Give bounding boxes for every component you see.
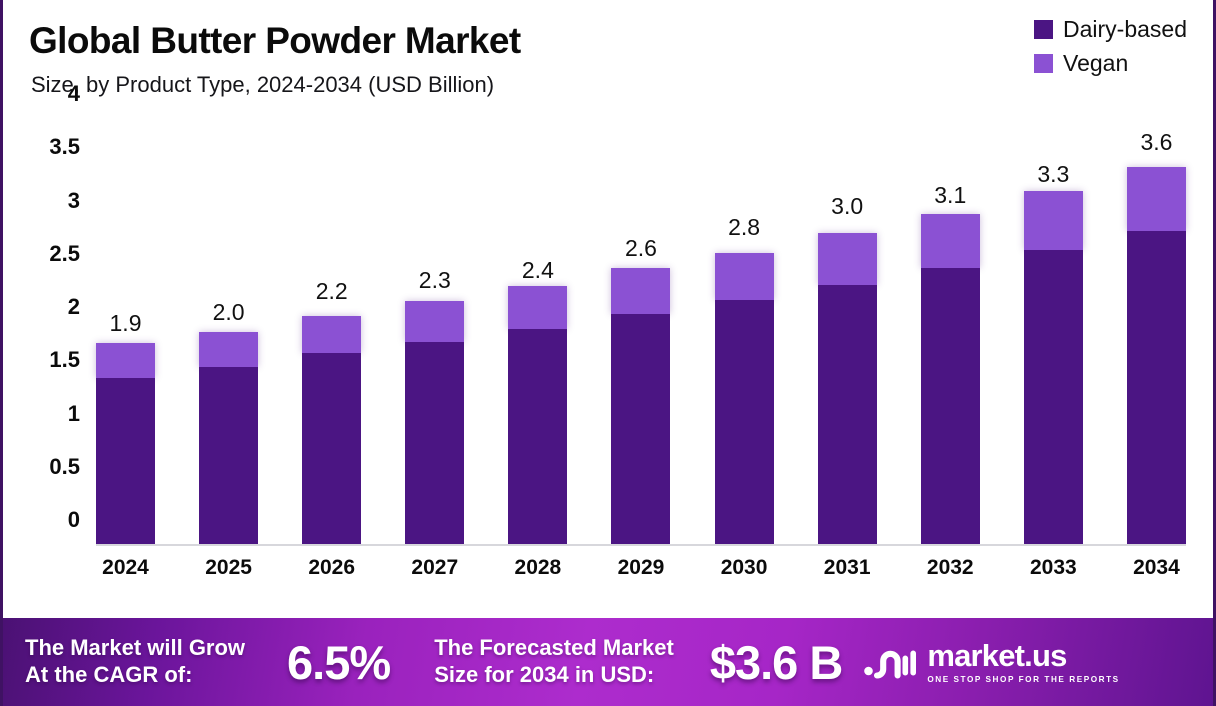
bar-group-2026[interactable]: 2.22026 bbox=[302, 120, 361, 544]
cagr-caption-line1: The Market will Grow bbox=[25, 635, 245, 662]
bar-value-label: 3.0 bbox=[831, 193, 863, 220]
bar-group-2025[interactable]: 2.02025 bbox=[199, 120, 258, 544]
logo-name: market.us bbox=[927, 640, 1066, 671]
legend-swatch-icon bbox=[1034, 20, 1053, 39]
bar-segment-dairy-based[interactable] bbox=[199, 367, 258, 544]
bar-segment-vegan[interactable] bbox=[96, 343, 155, 378]
y-axis-tick-label: 3 bbox=[68, 188, 80, 214]
bar-segment-dairy-based[interactable] bbox=[818, 285, 877, 544]
bar-segment-vegan[interactable] bbox=[715, 253, 774, 301]
bar-segment-vegan[interactable] bbox=[921, 214, 980, 268]
cagr-caption-line2: At the CAGR of: bbox=[25, 662, 245, 689]
x-axis-label-2026: 2026 bbox=[308, 556, 355, 580]
forecast-caption: The Forecasted Market Size for 2034 in U… bbox=[434, 635, 674, 689]
y-axis-tick-label: 1 bbox=[68, 401, 80, 427]
cagr-value: 6.5% bbox=[287, 635, 390, 690]
legend-swatch-icon bbox=[1034, 54, 1053, 73]
bar-segment-dairy-based[interactable] bbox=[1127, 231, 1186, 544]
bar-value-label: 2.8 bbox=[728, 214, 760, 241]
bar-segment-dairy-based[interactable] bbox=[921, 268, 980, 544]
bar-segment-vegan[interactable] bbox=[508, 286, 567, 328]
x-axis-label-2025: 2025 bbox=[205, 556, 252, 580]
y-axis-tick-label: 0.5 bbox=[49, 454, 80, 480]
bar-group-2033[interactable]: 3.32033 bbox=[1024, 120, 1083, 544]
forecast-caption-line2: Size for 2034 in USD: bbox=[434, 662, 674, 689]
y-axis-tick-label: 0 bbox=[68, 507, 80, 533]
bar-segment-dairy-based[interactable] bbox=[715, 300, 774, 544]
x-axis-label-2032: 2032 bbox=[927, 556, 974, 580]
legend-item-vegan: Vegan bbox=[1034, 50, 1128, 77]
bar-segment-dairy-based[interactable] bbox=[1024, 250, 1083, 544]
bar-segment-vegan[interactable] bbox=[302, 316, 361, 353]
bar-value-label: 3.3 bbox=[1037, 161, 1069, 188]
legend-label: Vegan bbox=[1063, 50, 1128, 77]
bar-value-label: 2.4 bbox=[522, 257, 554, 284]
bar-segment-dairy-based[interactable] bbox=[302, 353, 361, 544]
bar-segment-vegan[interactable] bbox=[1024, 191, 1083, 250]
market-us-logo[interactable]: market.us ONE STOP SHOP FOR THE REPORTS bbox=[864, 640, 1119, 684]
x-axis-label-2028: 2028 bbox=[515, 556, 562, 580]
bar-group-2028[interactable]: 2.42028 bbox=[508, 120, 567, 544]
x-axis-line bbox=[96, 544, 1186, 546]
bar-group-2029[interactable]: 2.62029 bbox=[611, 120, 670, 544]
logo-tagline: ONE STOP SHOP FOR THE REPORTS bbox=[927, 675, 1119, 684]
x-axis-label-2034: 2034 bbox=[1133, 556, 1180, 580]
chart-legend: Dairy-basedVegan bbox=[1034, 16, 1187, 77]
bar-value-label: 2.3 bbox=[419, 267, 451, 294]
logo-text: market.us ONE STOP SHOP FOR THE REPORTS bbox=[927, 640, 1119, 684]
x-axis-label-2024: 2024 bbox=[102, 556, 149, 580]
bar-segment-vegan[interactable] bbox=[199, 332, 258, 367]
cagr-caption: The Market will Grow At the CAGR of: bbox=[25, 635, 245, 689]
y-axis-tick-label: 2 bbox=[68, 294, 80, 320]
bar-group-2024[interactable]: 1.92024 bbox=[96, 120, 155, 544]
bar-segment-vegan[interactable] bbox=[611, 268, 670, 314]
page-subtitle: Size, by Product Type, 2024-2034 (USD Bi… bbox=[31, 72, 494, 98]
bar-series-container: 1.920242.020252.220262.320272.420282.620… bbox=[96, 120, 1186, 544]
bar-value-label: 2.0 bbox=[213, 299, 245, 326]
bar-value-label: 2.6 bbox=[625, 235, 657, 262]
forecast-caption-line1: The Forecasted Market bbox=[434, 635, 674, 662]
bar-segment-dairy-based[interactable] bbox=[508, 329, 567, 544]
bar-value-label: 3.6 bbox=[1140, 129, 1172, 156]
footer-banner: The Market will Grow At the CAGR of: 6.5… bbox=[0, 618, 1216, 706]
bar-segment-vegan[interactable] bbox=[818, 233, 877, 285]
bar-group-2027[interactable]: 2.32027 bbox=[405, 120, 464, 544]
page-title: Global Butter Powder Market bbox=[29, 20, 521, 62]
y-axis-tick-label: 1.5 bbox=[49, 347, 80, 373]
infographic-page: Global Butter Powder Market Size, by Pro… bbox=[0, 0, 1216, 706]
bar-group-2031[interactable]: 3.02031 bbox=[818, 120, 877, 544]
bar-group-2034[interactable]: 3.62034 bbox=[1127, 120, 1186, 544]
bar-segment-dairy-based[interactable] bbox=[611, 314, 670, 544]
x-axis-label-2031: 2031 bbox=[824, 556, 871, 580]
bar-group-2032[interactable]: 3.12032 bbox=[921, 120, 980, 544]
bar-value-label: 1.9 bbox=[110, 310, 142, 337]
x-axis-label-2027: 2027 bbox=[411, 556, 458, 580]
y-axis-tick-label: 3.5 bbox=[49, 134, 80, 160]
bar-segment-dairy-based[interactable] bbox=[405, 342, 464, 544]
market-us-logo-icon bbox=[864, 642, 916, 682]
forecast-value: $3.6 B bbox=[710, 635, 842, 690]
bar-segment-dairy-based[interactable] bbox=[96, 378, 155, 544]
bar-value-label: 3.1 bbox=[934, 182, 966, 209]
legend-label: Dairy-based bbox=[1063, 16, 1187, 43]
bar-segment-vegan[interactable] bbox=[405, 301, 464, 341]
chart-plot-area: 00.511.522.533.54 1.920242.020252.220262… bbox=[96, 120, 1186, 546]
y-axis-tick-label: 2.5 bbox=[49, 241, 80, 267]
x-axis-label-2033: 2033 bbox=[1030, 556, 1077, 580]
x-axis-label-2030: 2030 bbox=[721, 556, 768, 580]
bar-segment-vegan[interactable] bbox=[1127, 167, 1186, 232]
bar-group-2030[interactable]: 2.82030 bbox=[715, 120, 774, 544]
x-axis-label-2029: 2029 bbox=[618, 556, 665, 580]
y-axis-tick-label: 4 bbox=[68, 81, 80, 107]
legend-item-dairy-based: Dairy-based bbox=[1034, 16, 1187, 43]
bar-value-label: 2.2 bbox=[316, 278, 348, 305]
